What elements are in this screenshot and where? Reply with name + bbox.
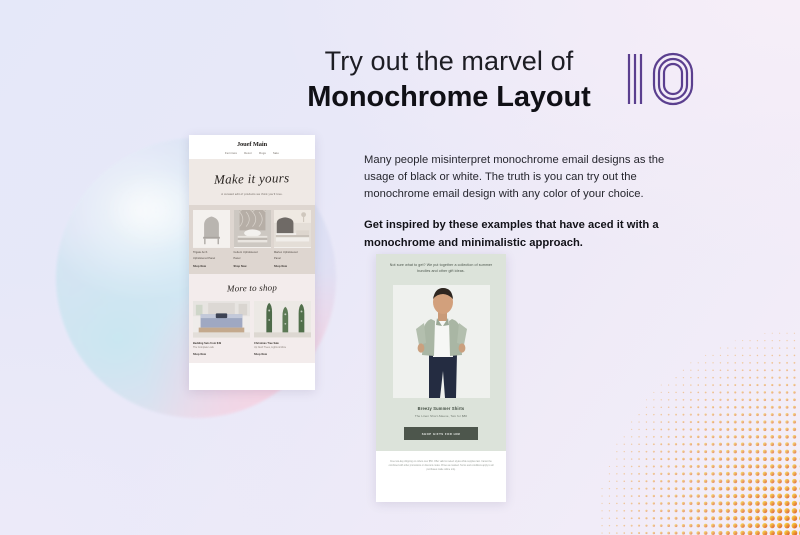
copy-paragraph: Many people misinterpret monochrome emai…: [364, 152, 684, 203]
list-item-cta[interactable]: Shop Now: [254, 353, 311, 356]
email-right-footer: Free two-day shipping on orders over $50…: [376, 451, 506, 482]
product-card[interactable]: Celtern Upholstered Panel Shop Now: [234, 210, 271, 269]
nav-item-furniture[interactable]: Furniture: [225, 152, 237, 155]
list-item-cta[interactable]: Shop Now: [193, 353, 250, 356]
nav-item-decor[interactable]: Decor: [244, 152, 252, 155]
email-left-hero: Make it yours A curated edit of products…: [189, 159, 315, 205]
list-item[interactable]: Christmas Tree Sale Up Next! Trees, Ligh…: [254, 301, 311, 356]
product-card[interactable]: Tilgate Arch Upholstered Panel Shop Now: [193, 210, 230, 269]
product-subtitle: The Linen Short-Sleeve, Two for $80: [385, 414, 497, 418]
product-card[interactable]: Marlen Upholstered Panel Shop Now: [274, 210, 311, 269]
email-left-more-grid: Bedding Sets from $49 The Complete Look …: [193, 301, 311, 356]
nav-item-rugs[interactable]: Rugs: [259, 152, 266, 155]
number-ten-logo-icon: [624, 50, 698, 108]
email-left-nav[interactable]: Furniture Decor Rugs Sale: [189, 152, 315, 155]
product-thumbnail: [274, 210, 311, 248]
product-caption-line-2: Panel: [234, 257, 271, 261]
product-caption-line-1: Marlen Upholstered: [274, 251, 311, 255]
email-left-more-section: More to shop: [189, 274, 315, 363]
christmas-tree-thumbnail: [254, 301, 311, 338]
nav-item-sale[interactable]: Sale: [273, 152, 279, 155]
product-thumbnail: [193, 210, 230, 248]
product-title: Breezy Summer Shirts: [385, 406, 497, 411]
list-item-subtitle: Up Next! Trees, Lights & More: [254, 346, 311, 349]
email-mockup-right[interactable]: Not sure what to get? We put together a …: [376, 254, 506, 502]
email-left-header: Jouef Main Furniture Decor Rugs Sale: [189, 135, 315, 159]
list-item-title: Bedding Sets from $49: [193, 342, 250, 345]
email-left-logo: Jouef Main: [189, 141, 315, 148]
email-mockup-left[interactable]: Jouef Main Furniture Decor Rugs Sale Mak…: [189, 135, 315, 390]
product-thumbnail: [234, 210, 271, 248]
headline-line-1: Try out the marvel of: [284, 46, 614, 78]
list-item[interactable]: Bedding Sets from $49 The Complete Look …: [193, 301, 250, 356]
list-item-title: Christmas Tree Sale: [254, 342, 311, 345]
product-caption-line-2: Upholstered Panel: [193, 257, 230, 261]
email-right-body: Not sure what to get? We put together a …: [376, 254, 506, 451]
product-cta[interactable]: Shop Now: [193, 265, 230, 268]
email-left-hero-subtitle: A curated edit of products we think you'…: [195, 193, 309, 196]
slide-canvas: Try out the marvel of Monochrome Layout …: [0, 0, 800, 535]
page-title: Try out the marvel of Monochrome Layout: [284, 46, 614, 114]
email-left-hero-title: Make it yours: [214, 170, 290, 188]
bedding-thumbnail: [193, 301, 250, 338]
fine-print: Free two-day shipping on orders over $50…: [387, 460, 495, 472]
headline-line-2: Monochrome Layout: [284, 80, 614, 114]
product-cta[interactable]: Shop Now: [234, 265, 271, 268]
email-right-intro: Not sure what to get? We put together a …: [385, 263, 497, 275]
product-caption-line-1: Tilgate Arch: [193, 251, 230, 255]
product-cta[interactable]: Shop Now: [274, 265, 311, 268]
email-left-more-title: More to shop: [193, 282, 311, 294]
shop-gifts-button[interactable]: SHOP GIFTS FOR HIM: [404, 427, 478, 440]
body-copy: Many people misinterpret monochrome emai…: [364, 152, 684, 252]
halftone-dot-arc-decoration: [600, 235, 800, 535]
product-caption-line-1: Celtern Upholstered: [234, 251, 271, 255]
copy-paragraph-bold: Get inspired by these examples that have…: [364, 217, 684, 251]
model-photo: [393, 285, 490, 398]
product-caption-line-2: Panel: [274, 257, 311, 261]
list-item-subtitle: The Complete Look: [193, 346, 250, 349]
email-left-product-grid: Tilgate Arch Upholstered Panel Shop Now: [189, 205, 315, 275]
